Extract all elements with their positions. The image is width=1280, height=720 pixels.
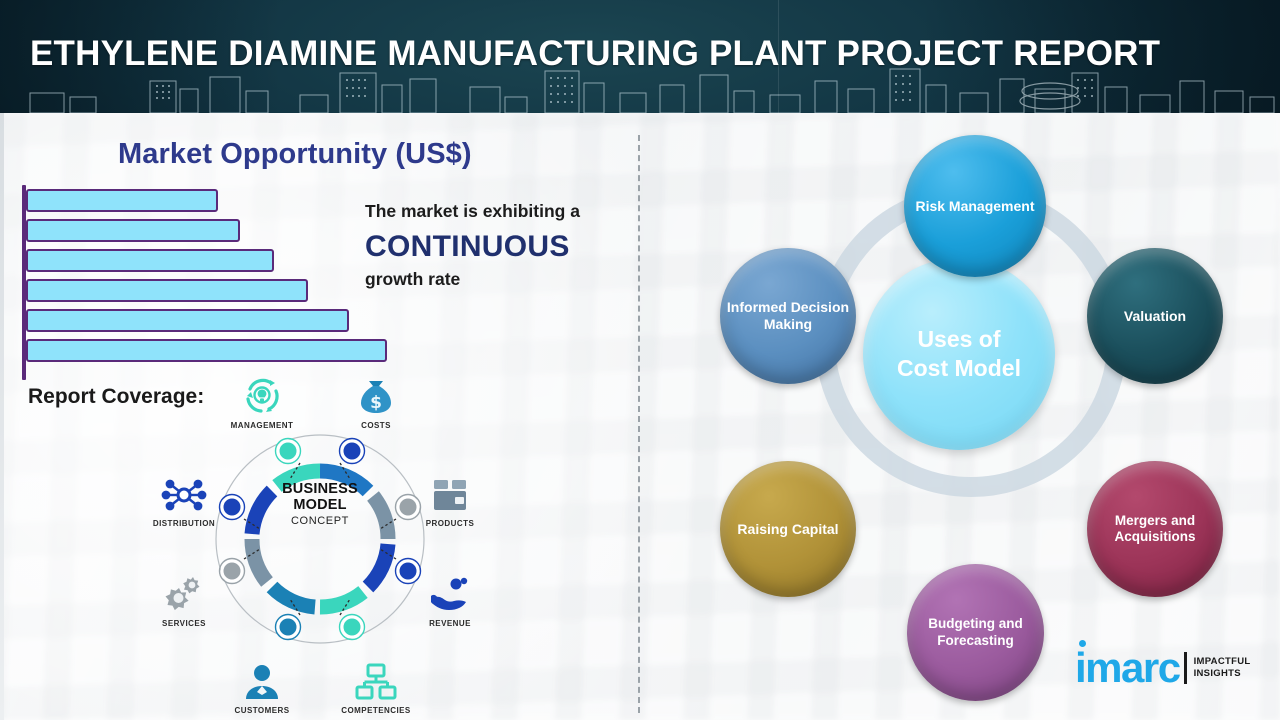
uses-of-cost-model-diagram: Uses of Cost Model Risk Management Valua… [660,113,1280,720]
imarc-logo: imarc IMPACTFUL INSIGHTS [1075,649,1250,688]
bubble-valuation[interactable]: Valuation [1087,248,1223,384]
coverage-label-products: PRODUCTS [398,519,502,528]
svg-text:$: $ [370,393,382,413]
imarc-wordmark: imarc [1075,649,1180,688]
chart-bar [26,249,274,272]
bubble-label-mergers-and-acquisitions: Mergers and Acquisitions [1087,513,1223,545]
imarc-tagline-line-1: IMPACTFUL [1194,656,1251,668]
vertical-dashed-divider [638,135,640,713]
org-chart-icon [324,656,428,702]
coverage-item-costs: $ COSTS [324,371,428,430]
bubble-raising-capital[interactable]: Raising Capital [720,461,856,597]
coverage-label-services: SERVICES [132,619,236,628]
money-bag-icon: $ [324,371,428,417]
coverage-label-distribution: DISTRIBUTION [132,519,236,528]
chart-bar [26,189,218,212]
hand-coins-icon [398,569,502,615]
blurb-emphasis: CONTINUOUS [365,227,635,268]
chart-bar [26,219,240,242]
package-box-icon [398,469,502,515]
bubble-label-valuation: Valuation [1118,308,1192,325]
coverage-label-customers: CUSTOMERS [210,706,314,715]
user-person-icon [210,656,314,702]
coverage-item-distribution: DISTRIBUTION [132,469,236,528]
bubble-informed-decision-making[interactable]: Informed Decision Making [720,248,856,384]
coverage-item-services: SERVICES [132,569,236,628]
blurb-line-1: The market is exhibiting a [365,201,635,223]
coverage-item-management: MANAGEMENT [210,371,314,430]
recycle-lightbulb-icon [210,371,314,417]
chart-bar [26,339,387,362]
center-bubble-line-1: Uses of [917,326,1000,352]
coverage-label-management: MANAGEMENT [210,421,314,430]
coverage-item-revenue: REVENUE [398,569,502,628]
wheel-label-line-2: MODEL [246,497,394,513]
coverage-label-revenue: REVENUE [398,619,502,628]
gears-icon [132,569,236,615]
imarc-logo-dot [1079,640,1086,647]
coverage-label-costs: COSTS [324,421,428,430]
chart-bar [26,309,349,332]
bubble-risk-management[interactable]: Risk Management [904,135,1046,277]
left-edge-strip [0,113,4,720]
market-opportunity-bar-chart [22,185,402,380]
wheel-label-line-1: BUSINESS [246,481,394,497]
coverage-item-products: PRODUCTS [398,469,502,528]
network-nodes-icon [132,469,236,515]
page-header: ETHYLENE DIAMINE MANUFACTURING PLANT PRO… [0,0,1280,113]
bubble-label-raising-capital: Raising Capital [731,521,844,538]
bubble-label-budgeting-and-forecasting: Budgeting and Forecasting [907,616,1044,648]
growth-blurb: The market is exhibiting a CONTINUOUS gr… [365,201,635,291]
coverage-item-customers: CUSTOMERS [210,656,314,715]
page-title: ETHYLENE DIAMINE MANUFACTURING PLANT PRO… [30,34,1160,74]
market-opportunity-title: Market Opportunity (US$) [118,138,472,171]
bubble-label-informed-decision-making: Informed Decision Making [720,299,856,333]
imarc-tagline: IMPACTFUL INSIGHTS [1194,656,1251,680]
slide-canvas: Market Opportunity (US$) The market is e… [0,113,1280,720]
chart-bar [26,279,308,302]
bubble-label-risk-management: Risk Management [909,198,1040,215]
blurb-line-3: growth rate [365,269,635,291]
bubble-mergers-and-acquisitions[interactable]: Mergers and Acquisitions [1087,461,1223,597]
coverage-label-competencies: COMPETENCIES [324,706,428,715]
imarc-logo-divider [1184,652,1187,684]
bubble-budgeting-and-forecasting[interactable]: Budgeting and Forecasting [907,564,1044,701]
business-model-wheel-label: BUSINESS MODEL CONCEPT [246,481,394,527]
center-bubble-uses-of-cost-model: Uses of Cost Model [863,258,1055,450]
center-bubble-line-2: Cost Model [897,355,1021,381]
coverage-item-competencies: COMPETENCIES [324,656,428,715]
imarc-tagline-line-2: INSIGHTS [1194,668,1251,680]
wheel-label-line-3: CONCEPT [246,515,394,527]
report-coverage-wheel: BUSINESS MODEL CONCEPT MANAGEMENT [130,371,510,716]
